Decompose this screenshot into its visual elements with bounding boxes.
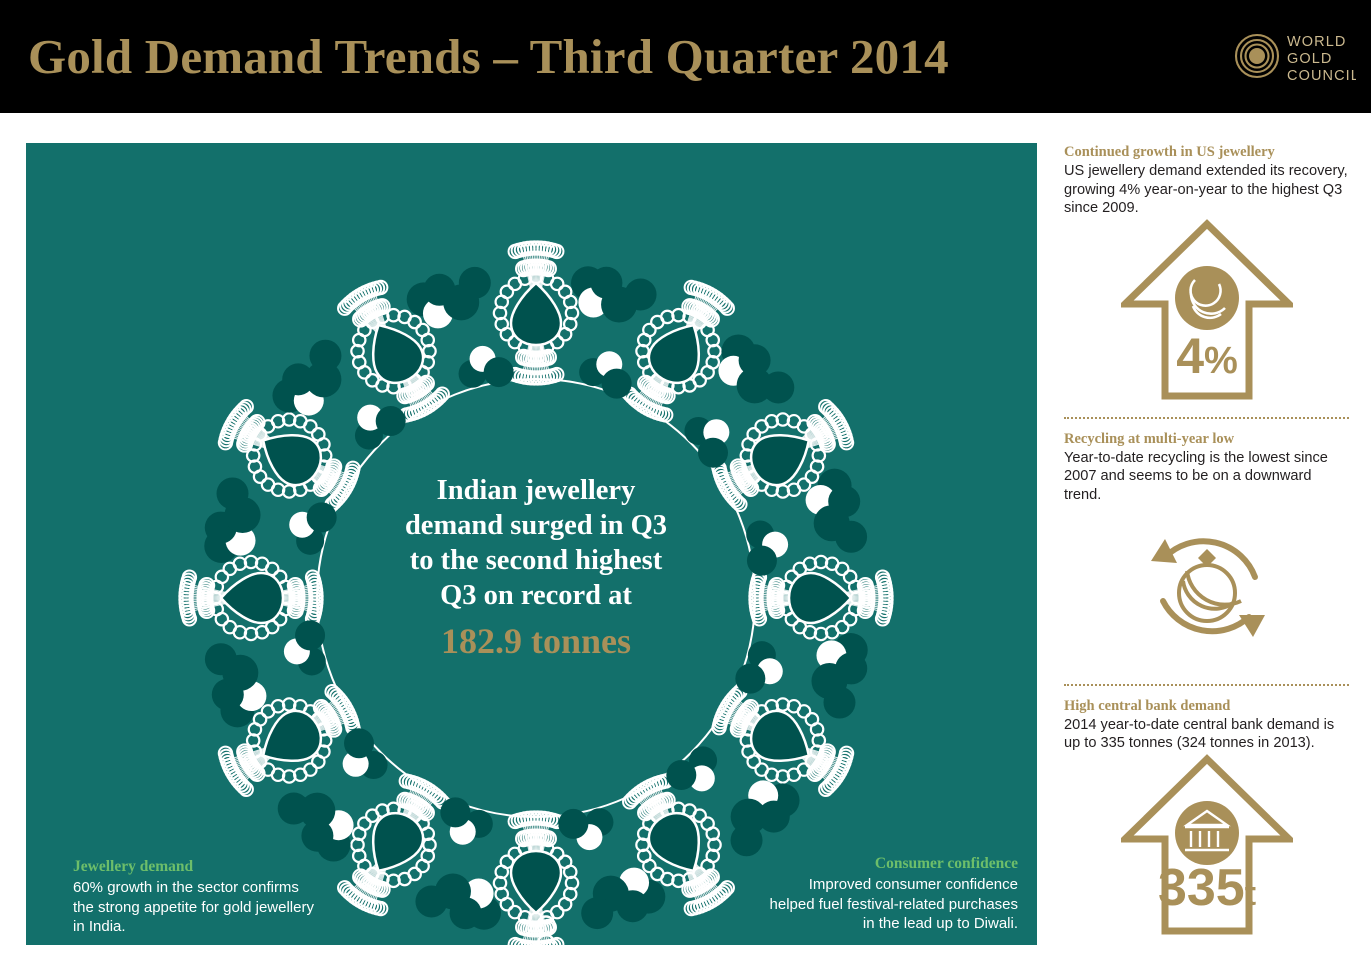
sidebar-unit-0: %	[1204, 340, 1238, 382]
recycling-arrows-graphic	[1064, 505, 1349, 670]
headline-line-4: Q3 on record at	[440, 580, 632, 611]
logo-line-2: GOLD	[1287, 51, 1333, 67]
callout-jewellery-demand-body: 60% growth in the sector confirms the st…	[73, 878, 323, 937]
callout-consumer-confidence-title: Consumer confidence	[766, 855, 1018, 873]
sidebar-block-us-jewellery-title: Continued growth in US jewellery	[1064, 143, 1349, 161]
logo-line-3: COUNCIL	[1287, 68, 1356, 84]
callout-jewellery-demand: Jewellery demand 60% growth in the secto…	[73, 858, 323, 937]
coin-icon	[1175, 266, 1239, 330]
headline-line-2: demand surged in Q3	[405, 510, 667, 541]
callout-consumer-confidence: Consumer confidence Improved consumer co…	[766, 855, 1018, 934]
divider-1	[1064, 417, 1349, 419]
sidebar-value-2: 335	[1157, 859, 1244, 917]
headline-line-3: to the second highest	[410, 545, 663, 576]
sidebar-block-central-bank-body: 2014 year-to-date central bank demand is…	[1064, 716, 1349, 753]
callout-consumer-confidence-body: Improved consumer confidence helped fuel…	[766, 875, 1018, 934]
sidebar-block-central-bank: High central bank demand 2014 year-to-da…	[1064, 697, 1349, 935]
sidebar-block-us-jewellery-body: US jewellery demand extended its recover…	[1064, 162, 1349, 218]
up-arrow-with-coin-graphic: 4%	[1064, 218, 1349, 403]
divider-2	[1064, 684, 1349, 686]
callout-jewellery-demand-title: Jewellery demand	[73, 858, 323, 876]
sidebar-unit-2: t	[1244, 875, 1255, 913]
up-arrow-with-bank-graphic: 335t	[1064, 753, 1349, 935]
main-infographic-panel: Indian jewellery demand surged in Q3 to …	[26, 143, 1037, 945]
headline-text: Indian jewellery demand surged in Q3 to …	[356, 473, 716, 665]
sidebar-block-central-bank-title: High central bank demand	[1064, 697, 1349, 715]
svg-text:4%: 4%	[1176, 328, 1238, 384]
sidebar-block-recycling-body: Year-to-date recycling is the lowest sin…	[1064, 449, 1349, 505]
headline-line-1: Indian jewellery	[437, 475, 636, 506]
sidebar-block-us-jewellery: Continued growth in US jewellery US jewe…	[1064, 143, 1349, 403]
sidebar-block-recycling: Recycling at multi-year low Year-to-date…	[1064, 430, 1349, 670]
world-gold-council-logo: WORLD GOLD COUNCIL	[1232, 26, 1356, 86]
svg-text:335t: 335t	[1157, 859, 1255, 917]
page-header: Gold Demand Trends – Third Quarter 2014 …	[0, 0, 1371, 113]
headline-value: 182.9 tonnes	[356, 613, 716, 665]
page-title: Gold Demand Trends – Third Quarter 2014	[28, 28, 949, 85]
sidebar-value-0: 4	[1176, 328, 1204, 384]
fireworks-icon	[856, 943, 1021, 945]
sidebar: Continued growth in US jewellery US jewe…	[1064, 143, 1349, 948]
logo-line-1: WORLD	[1287, 34, 1346, 50]
sidebar-block-recycling-title: Recycling at multi-year low	[1064, 430, 1349, 448]
